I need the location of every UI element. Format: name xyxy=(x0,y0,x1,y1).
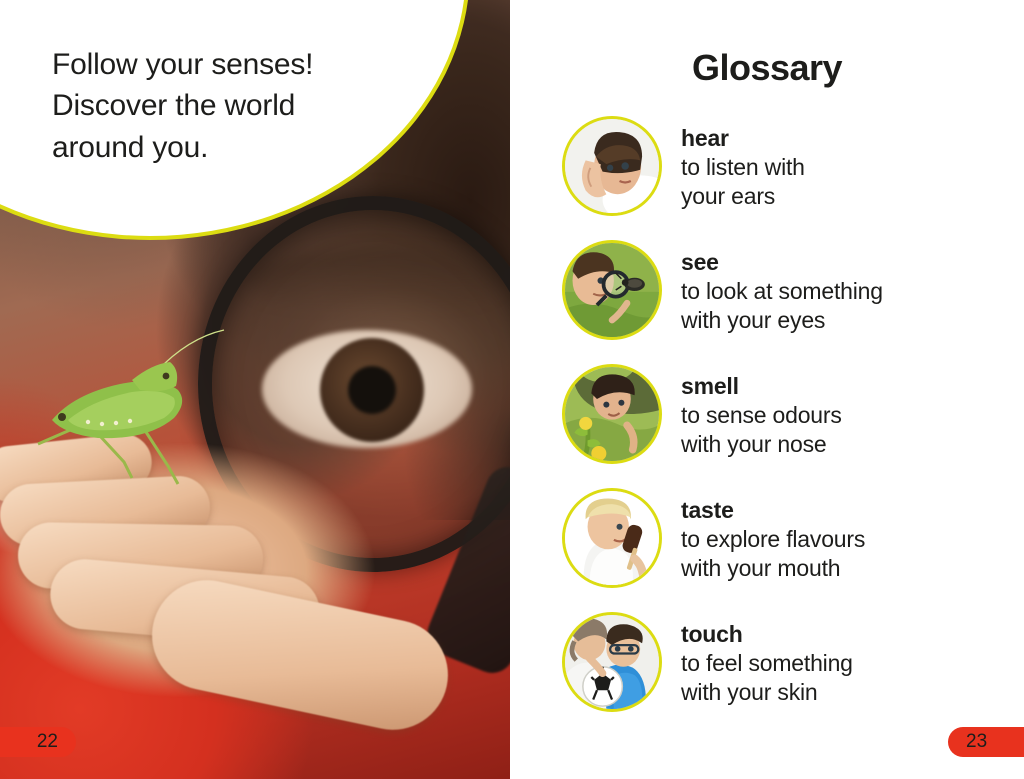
glossary-entry-taste: taste to explore flavours with your mout… xyxy=(562,488,1002,612)
football-touch-icon xyxy=(565,615,659,709)
headline-text: Follow your senses! Discover the world a… xyxy=(52,44,402,168)
entry-def-line-1: to look at something xyxy=(681,277,1001,306)
glossary-entry-touch: touch to feel something with your skin xyxy=(562,612,1002,736)
entry-term: touch xyxy=(681,620,1001,649)
entry-def-line-2: with your mouth xyxy=(681,554,1001,583)
magnifier-beetle-icon xyxy=(565,243,659,337)
entry-def-line-2: with your skin xyxy=(681,678,1001,707)
entry-definition: to look at something with your eyes xyxy=(681,277,1001,335)
entry-definition: to feel something with your skin xyxy=(681,649,1001,707)
entry-def-line-1: to feel something xyxy=(681,649,1001,678)
entry-def-line-1: to listen with xyxy=(681,153,1001,182)
entry-term: taste xyxy=(681,496,1001,525)
entry-text-see: see to look at something with your eyes xyxy=(681,248,1001,335)
entry-photo-touch xyxy=(562,612,662,712)
headline-line-1: Follow your senses! xyxy=(52,44,402,85)
entry-definition: to explore flavours with your mouth xyxy=(681,525,1001,583)
entry-definition: to listen with your ears xyxy=(681,153,1001,211)
glossary-list: hear to listen with your ears xyxy=(562,116,1002,736)
glossary-entry-see: see to look at something with your eyes xyxy=(562,240,1002,364)
entry-def-line-2: with your nose xyxy=(681,430,1001,459)
entry-photo-see xyxy=(562,240,662,340)
right-page: Glossary xyxy=(510,0,1024,779)
entry-definition: to sense odours with your nose xyxy=(681,401,1001,459)
smelling-flower-icon xyxy=(565,367,659,461)
book-spread: Follow your senses! Discover the world a… xyxy=(0,0,1024,779)
entry-def-line-2: your ears xyxy=(681,182,1001,211)
page-number-left: 22 xyxy=(0,727,76,757)
entry-def-line-1: to explore flavours xyxy=(681,525,1001,554)
page-number-right: 23 xyxy=(948,727,1024,757)
entry-text-touch: touch to feel something with your skin xyxy=(681,620,1001,707)
entry-photo-hear xyxy=(562,116,662,216)
entry-term: hear xyxy=(681,124,1001,153)
entry-def-line-2: with your eyes xyxy=(681,306,1001,335)
ear-listening-icon xyxy=(565,119,659,213)
entry-text-hear: hear to listen with your ears xyxy=(681,124,1001,211)
headline-line-3: around you. xyxy=(52,127,402,168)
praying-mantis-icon xyxy=(28,328,278,488)
entry-term: smell xyxy=(681,372,1001,401)
entry-photo-smell xyxy=(562,364,662,464)
entry-def-line-1: to sense odours xyxy=(681,401,1001,430)
ice-lolly-icon xyxy=(565,491,659,585)
entry-text-taste: taste to explore flavours with your mout… xyxy=(681,496,1001,583)
entry-term: see xyxy=(681,248,1001,277)
entry-photo-taste xyxy=(562,488,662,588)
headline-line-2: Discover the world xyxy=(52,85,402,126)
entry-text-smell: smell to sense odours with your nose xyxy=(681,372,1001,459)
glossary-entry-hear: hear to listen with your ears xyxy=(562,116,1002,240)
glossary-entry-smell: smell to sense odours with your nose xyxy=(562,364,1002,488)
page-title: Glossary xyxy=(510,47,1024,89)
left-page: Follow your senses! Discover the world a… xyxy=(0,0,510,779)
